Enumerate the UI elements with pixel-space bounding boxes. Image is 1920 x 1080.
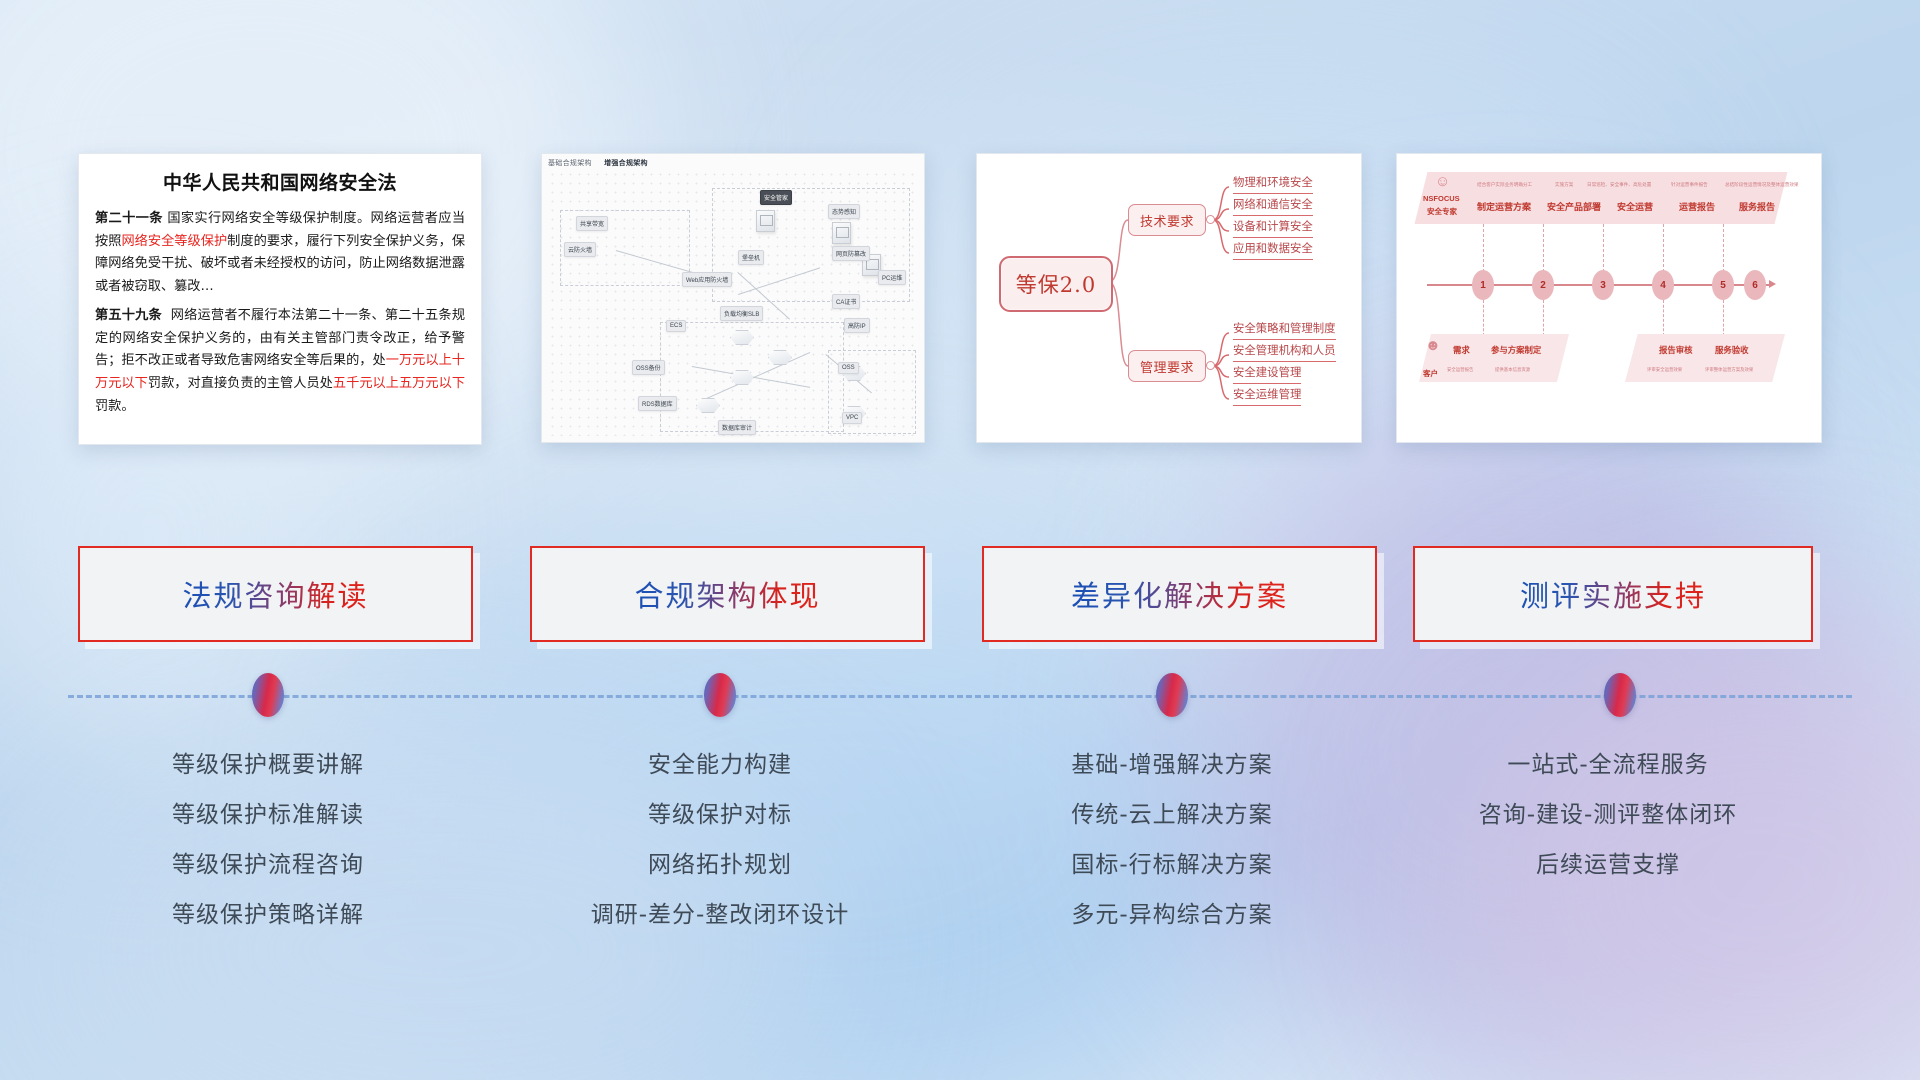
detail-column-4: 一站式-全流程服务 咨询-建设-测评整体闭环 后续运营支撑: [1412, 740, 1804, 890]
detail-column-3: 基础-增强解决方案 传统-云上解决方案 国标-行标解决方案 多元-异构综合方案: [976, 740, 1368, 940]
category-button-differentiated-solution[interactable]: 差异化解决方案: [982, 546, 1377, 642]
nsfocus-step-node-3[interactable]: 3: [1592, 270, 1614, 300]
nsfocus-tick-4: [1663, 224, 1665, 272]
nsfocus-tick-8: [1663, 300, 1665, 336]
list-item: 基础-增强解决方案: [976, 740, 1368, 790]
mindmap-leaf-physical-env: 物理和环境安全: [1233, 174, 1313, 194]
mindmap-leaf-construction-mgmt: 安全建设管理: [1233, 364, 1301, 384]
mindmap-canvas: 等保2.0 技术要求 物理和环境安全 网络和通信安全 设备和计算安全 应用和数据…: [977, 154, 1361, 442]
nsfocus-step-node-4[interactable]: 4: [1652, 270, 1674, 300]
architecture-node-vpc: VPC: [842, 412, 862, 424]
list-item: 等级保护流程咨询: [72, 840, 464, 890]
architecture-node-pc-ops: PC运维: [878, 270, 906, 285]
list-item: 咨询-建设-测评整体闭环: [1412, 790, 1804, 840]
nsfocus-actor-brand: NSFOCUS: [1423, 194, 1460, 203]
nsfocus-step-node-2[interactable]: 2: [1532, 270, 1554, 300]
nsfocus-tick-2: [1543, 224, 1545, 272]
category-button-label-2: 合规架构体现: [634, 573, 820, 615]
nsfocus-tick-5: [1723, 224, 1725, 272]
architecture-tab-basic[interactable]: 基础合规架构: [548, 160, 592, 167]
architecture-diagram: 基础合规架构 增强合规架构: [542, 154, 924, 442]
detail-column-1: 等级保护概要讲解 等级保护标准解读 等级保护流程咨询 等级保护策略详解: [72, 740, 464, 940]
timeline-connector: [0, 668, 1920, 724]
mindmap-collapse-dot-technical[interactable]: [1206, 215, 1215, 224]
mindmap-branch-management[interactable]: 管理要求: [1128, 350, 1206, 382]
nsfocus-tick-9: [1723, 300, 1725, 336]
architecture-node-ecs: ECS: [666, 320, 686, 332]
law-article-59-text-c: 罚款。: [95, 399, 135, 414]
nsfocus-bottom-tray-right: [1625, 334, 1785, 382]
detail-column-2: 安全能力构建 等级保护对标 网络拓扑规划 调研-差分-整改闭环设计: [524, 740, 916, 940]
nsfocus-top-sub-5: 总结阶段性运营情况及整体运营效果: [1725, 182, 1799, 188]
law-document-body: 中华人民共和国网络安全法 第二十一条 国家实行网络安全等级保护制度。网络运营者应…: [79, 154, 481, 444]
nsfocus-step-node-6[interactable]: 6: [1744, 270, 1766, 300]
security-expert-icon: ☺: [1435, 174, 1450, 189]
nsfocus-bottom-tray-left: [1419, 334, 1569, 382]
nsfocus-top-sub-1: 结合客户实际业务明确分工: [1477, 182, 1532, 188]
nsfocus-bottom-sub-4: 评审整体运营方案及效果: [1705, 367, 1753, 373]
nsfocus-bottom-main-2: 参与方案制定: [1491, 344, 1541, 356]
architecture-node-waf: Web应用防火墙: [682, 272, 732, 287]
architecture-node-security-butler: 安全管家: [760, 190, 792, 205]
list-item: 传统-云上解决方案: [976, 790, 1368, 840]
card-mindmap-dengbao[interactable]: 等保2.0 技术要求 物理和环境安全 网络和通信安全 设备和计算安全 应用和数据…: [976, 153, 1362, 443]
nsfocus-top-main-5: 服务报告: [1739, 200, 1775, 213]
timeline-dot-4[interactable]: [1604, 673, 1636, 717]
card-law-document[interactable]: 中华人民共和国网络安全法 第二十一条 国家实行网络安全等级保护制度。网络运营者应…: [78, 153, 482, 445]
category-button-assessment-support[interactable]: 测评实施支持: [1413, 546, 1813, 642]
nsfocus-bottom-main-1: 需求: [1453, 344, 1470, 356]
nsfocus-top-main-4: 运营报告: [1679, 200, 1715, 213]
nsfocus-top-main-3: 安全运营: [1617, 200, 1653, 213]
nsfocus-tick-7: [1543, 300, 1545, 336]
architecture-node-anti-ddos-ip: 高防IP: [844, 318, 870, 333]
list-item: 安全能力构建: [524, 740, 916, 790]
mindmap-leaf-network-comm: 网络和通信安全: [1233, 196, 1313, 216]
mindmap-leaf-app-data: 应用和数据安全: [1233, 240, 1313, 260]
architecture-node-slb: 负载均衡SLB: [720, 306, 763, 321]
law-article-21-highlight: 网络安全等级保护: [121, 234, 227, 249]
architecture-node-rds: RDS数据库: [638, 396, 677, 411]
nsfocus-top-main-2: 安全产品部署: [1547, 200, 1601, 213]
architecture-node-situation-awareness: 态势感知: [828, 204, 860, 219]
nsfocus-top-sub-3: 日常巡检、安全事件、高危处置: [1587, 182, 1651, 188]
category-button-label-4: 测评实施支持: [1520, 573, 1706, 615]
law-title: 中华人民共和国网络安全法: [95, 168, 465, 195]
nsfocus-process-diagram: ☺ NSFOCUS 安全专家 结合客户实际业务明确分工 制定运营方案 实施方案 …: [1397, 154, 1821, 442]
detail-columns: 等级保护概要讲解 等级保护标准解读 等级保护流程咨询 等级保护策略详解 安全能力…: [0, 740, 1920, 960]
nsfocus-bottom-sub-3: 评审安全运营效果: [1647, 367, 1682, 373]
category-button-label-3: 差异化解决方案: [1071, 573, 1288, 615]
nsfocus-actor-role: 安全专家: [1427, 206, 1457, 217]
architecture-tab-enhanced[interactable]: 增强合规架构: [604, 160, 648, 167]
list-item: 等级保护对标: [524, 790, 916, 840]
list-item: 等级保护标准解读: [72, 790, 464, 840]
nsfocus-tick-3: [1603, 224, 1605, 272]
mindmap-leaf-ops-mgmt: 安全运维管理: [1233, 386, 1301, 406]
architecture-node-bastion-host: 堡垒机: [738, 250, 764, 265]
category-button-compliance-architecture[interactable]: 合规架构体现: [530, 546, 925, 642]
architecture-shape-cube-2: [832, 222, 851, 244]
nsfocus-axis-arrow-icon: [1769, 280, 1776, 288]
category-button-regulation-consulting[interactable]: 法规咨询解读: [78, 546, 473, 642]
list-item: 等级保护概要讲解: [72, 740, 464, 790]
nsfocus-step-node-1[interactable]: 1: [1472, 270, 1494, 300]
law-article-59-text-b: 罚款，对直接负责的主管人员处: [148, 376, 333, 391]
nsfocus-top-band-labels: ☺ NSFOCUS 安全专家 结合客户实际业务明确分工 制定运营方案 实施方案 …: [1421, 172, 1781, 224]
mindmap-collapse-dot-management[interactable]: [1206, 361, 1215, 370]
list-item: 国标-行标解决方案: [976, 840, 1368, 890]
timeline-dot-1[interactable]: [252, 673, 284, 717]
category-buttons-row: 法规咨询解读 合规架构体现 差异化解决方案 测评实施支持: [0, 546, 1920, 650]
timeline-dot-2[interactable]: [704, 673, 736, 717]
architecture-node-oss: OSS: [838, 362, 859, 374]
list-item: 一站式-全流程服务: [1412, 740, 1804, 790]
nsfocus-tick-6: [1483, 300, 1485, 336]
nsfocus-tick-1: [1483, 224, 1485, 272]
category-button-label-1: 法规咨询解读: [182, 573, 368, 615]
architecture-node-web-tamper-proof: 网页防篡改: [832, 246, 870, 261]
nsfocus-bottom-main-4: 服务验收: [1715, 344, 1749, 356]
mindmap-leaf-policy-system: 安全策略和管理制度: [1233, 320, 1336, 340]
nsfocus-top-sub-4: 针对运营事件报告: [1671, 182, 1708, 188]
nsfocus-bottom-sub-1: 安全运营报告: [1447, 367, 1473, 373]
architecture-node-shared-bandwidth: 共享带宽: [576, 216, 608, 231]
list-item: 等级保护策略详解: [72, 890, 464, 940]
nsfocus-actor-customer: 客户: [1423, 368, 1438, 379]
mindmap-leaf-device-compute: 设备和计算安全: [1233, 218, 1313, 238]
law-article-21-label: 第二十一条: [95, 211, 163, 226]
law-article-59-label: 第五十九条: [95, 308, 162, 323]
mindmap-branch-technical[interactable]: 技术要求: [1128, 204, 1206, 236]
list-item: 调研-差分-整改闭环设计: [524, 890, 916, 940]
cards-row: 中华人民共和国网络安全法 第二十一条 国家实行网络安全等级保护制度。网络运营者应…: [0, 148, 1920, 448]
nsfocus-top-sub-2: 实施方案: [1555, 182, 1573, 188]
mindmap-leaf-org-personnel: 安全管理机构和人员: [1233, 342, 1336, 362]
customer-icon: ☻: [1425, 338, 1441, 353]
law-article-59-highlight-2: 五千元以上五万元以下: [333, 376, 465, 391]
law-paragraph-21: 第二十一条 国家实行网络安全等级保护制度。网络运营者应当按照网络安全等级保护制度…: [95, 208, 465, 299]
architecture-node-oss-backup: OSS备份: [632, 360, 665, 375]
architecture-tabs[interactable]: 基础合规架构 增强合规架构: [548, 158, 658, 168]
list-item: 后续运营支撑: [1412, 840, 1804, 890]
card-cloud-architecture[interactable]: 基础合规架构 增强合规架构: [541, 153, 925, 443]
list-item: 网络拓扑规划: [524, 840, 916, 890]
list-item: 多元-异构综合方案: [976, 890, 1368, 940]
nsfocus-bottom-main-3: 报告审核: [1659, 344, 1693, 356]
architecture-node-db-audit: 数据库审计: [718, 420, 756, 435]
mindmap-root-node[interactable]: 等保2.0: [999, 256, 1113, 312]
nsfocus-top-main-1: 制定运营方案: [1477, 200, 1531, 213]
architecture-node-cloud-firewall: 云防火墙: [564, 242, 596, 257]
nsfocus-step-node-5[interactable]: 5: [1712, 270, 1734, 300]
nsfocus-bottom-sub-2: 提供基本信息资源: [1495, 367, 1530, 373]
law-paragraph-59: 第五十九条 网络运营者不履行本法第二十一条、第二十五条规定的网络安全保护义务的，…: [95, 305, 465, 419]
card-nsfocus-process[interactable]: ☺ NSFOCUS 安全专家 结合客户实际业务明确分工 制定运营方案 实施方案 …: [1396, 153, 1822, 443]
architecture-node-ca-cert: CA证书: [832, 294, 860, 309]
timeline-dashed-line: [68, 695, 1852, 698]
architecture-shape-cube-1: [756, 210, 775, 232]
timeline-dot-3[interactable]: [1156, 673, 1188, 717]
